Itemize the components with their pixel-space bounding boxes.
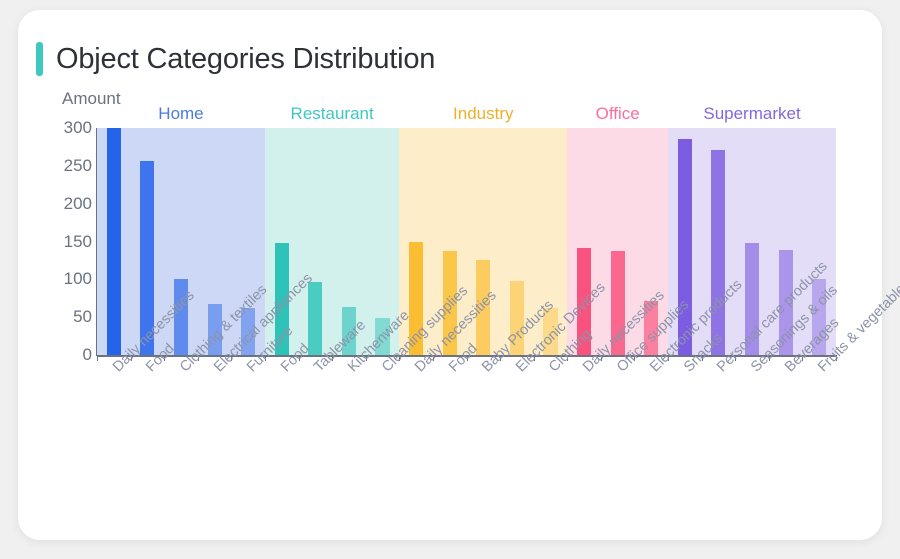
- group-label-supermarket: Supermarket: [703, 104, 800, 124]
- group-label-industry: Industry: [453, 104, 513, 124]
- group-label-home: Home: [158, 104, 203, 124]
- y-axis-tick-label: 250: [46, 156, 92, 176]
- group-label-restaurant: Restaurant: [291, 104, 374, 124]
- chart-card: Object Categories Distribution Amount 05…: [18, 10, 882, 540]
- bar[interactable]: [308, 282, 322, 355]
- y-axis-tick-label: 200: [46, 194, 92, 214]
- y-axis-tick-label: 0: [46, 345, 92, 365]
- y-axis-tick-label: 50: [46, 307, 92, 327]
- bar[interactable]: [107, 128, 121, 355]
- y-axis-ticks: 050100150200250300: [42, 10, 92, 540]
- x-axis-tick: [97, 355, 98, 361]
- y-axis-tick-label: 300: [46, 118, 92, 138]
- group-label-office: Office: [596, 104, 640, 124]
- y-axis-tick-label: 150: [46, 232, 92, 252]
- bar[interactable]: [711, 150, 725, 355]
- chart-plot-area: Amount 050100150200250300 HomeRestaurant…: [18, 10, 882, 540]
- y-axis-tick-label: 100: [46, 269, 92, 289]
